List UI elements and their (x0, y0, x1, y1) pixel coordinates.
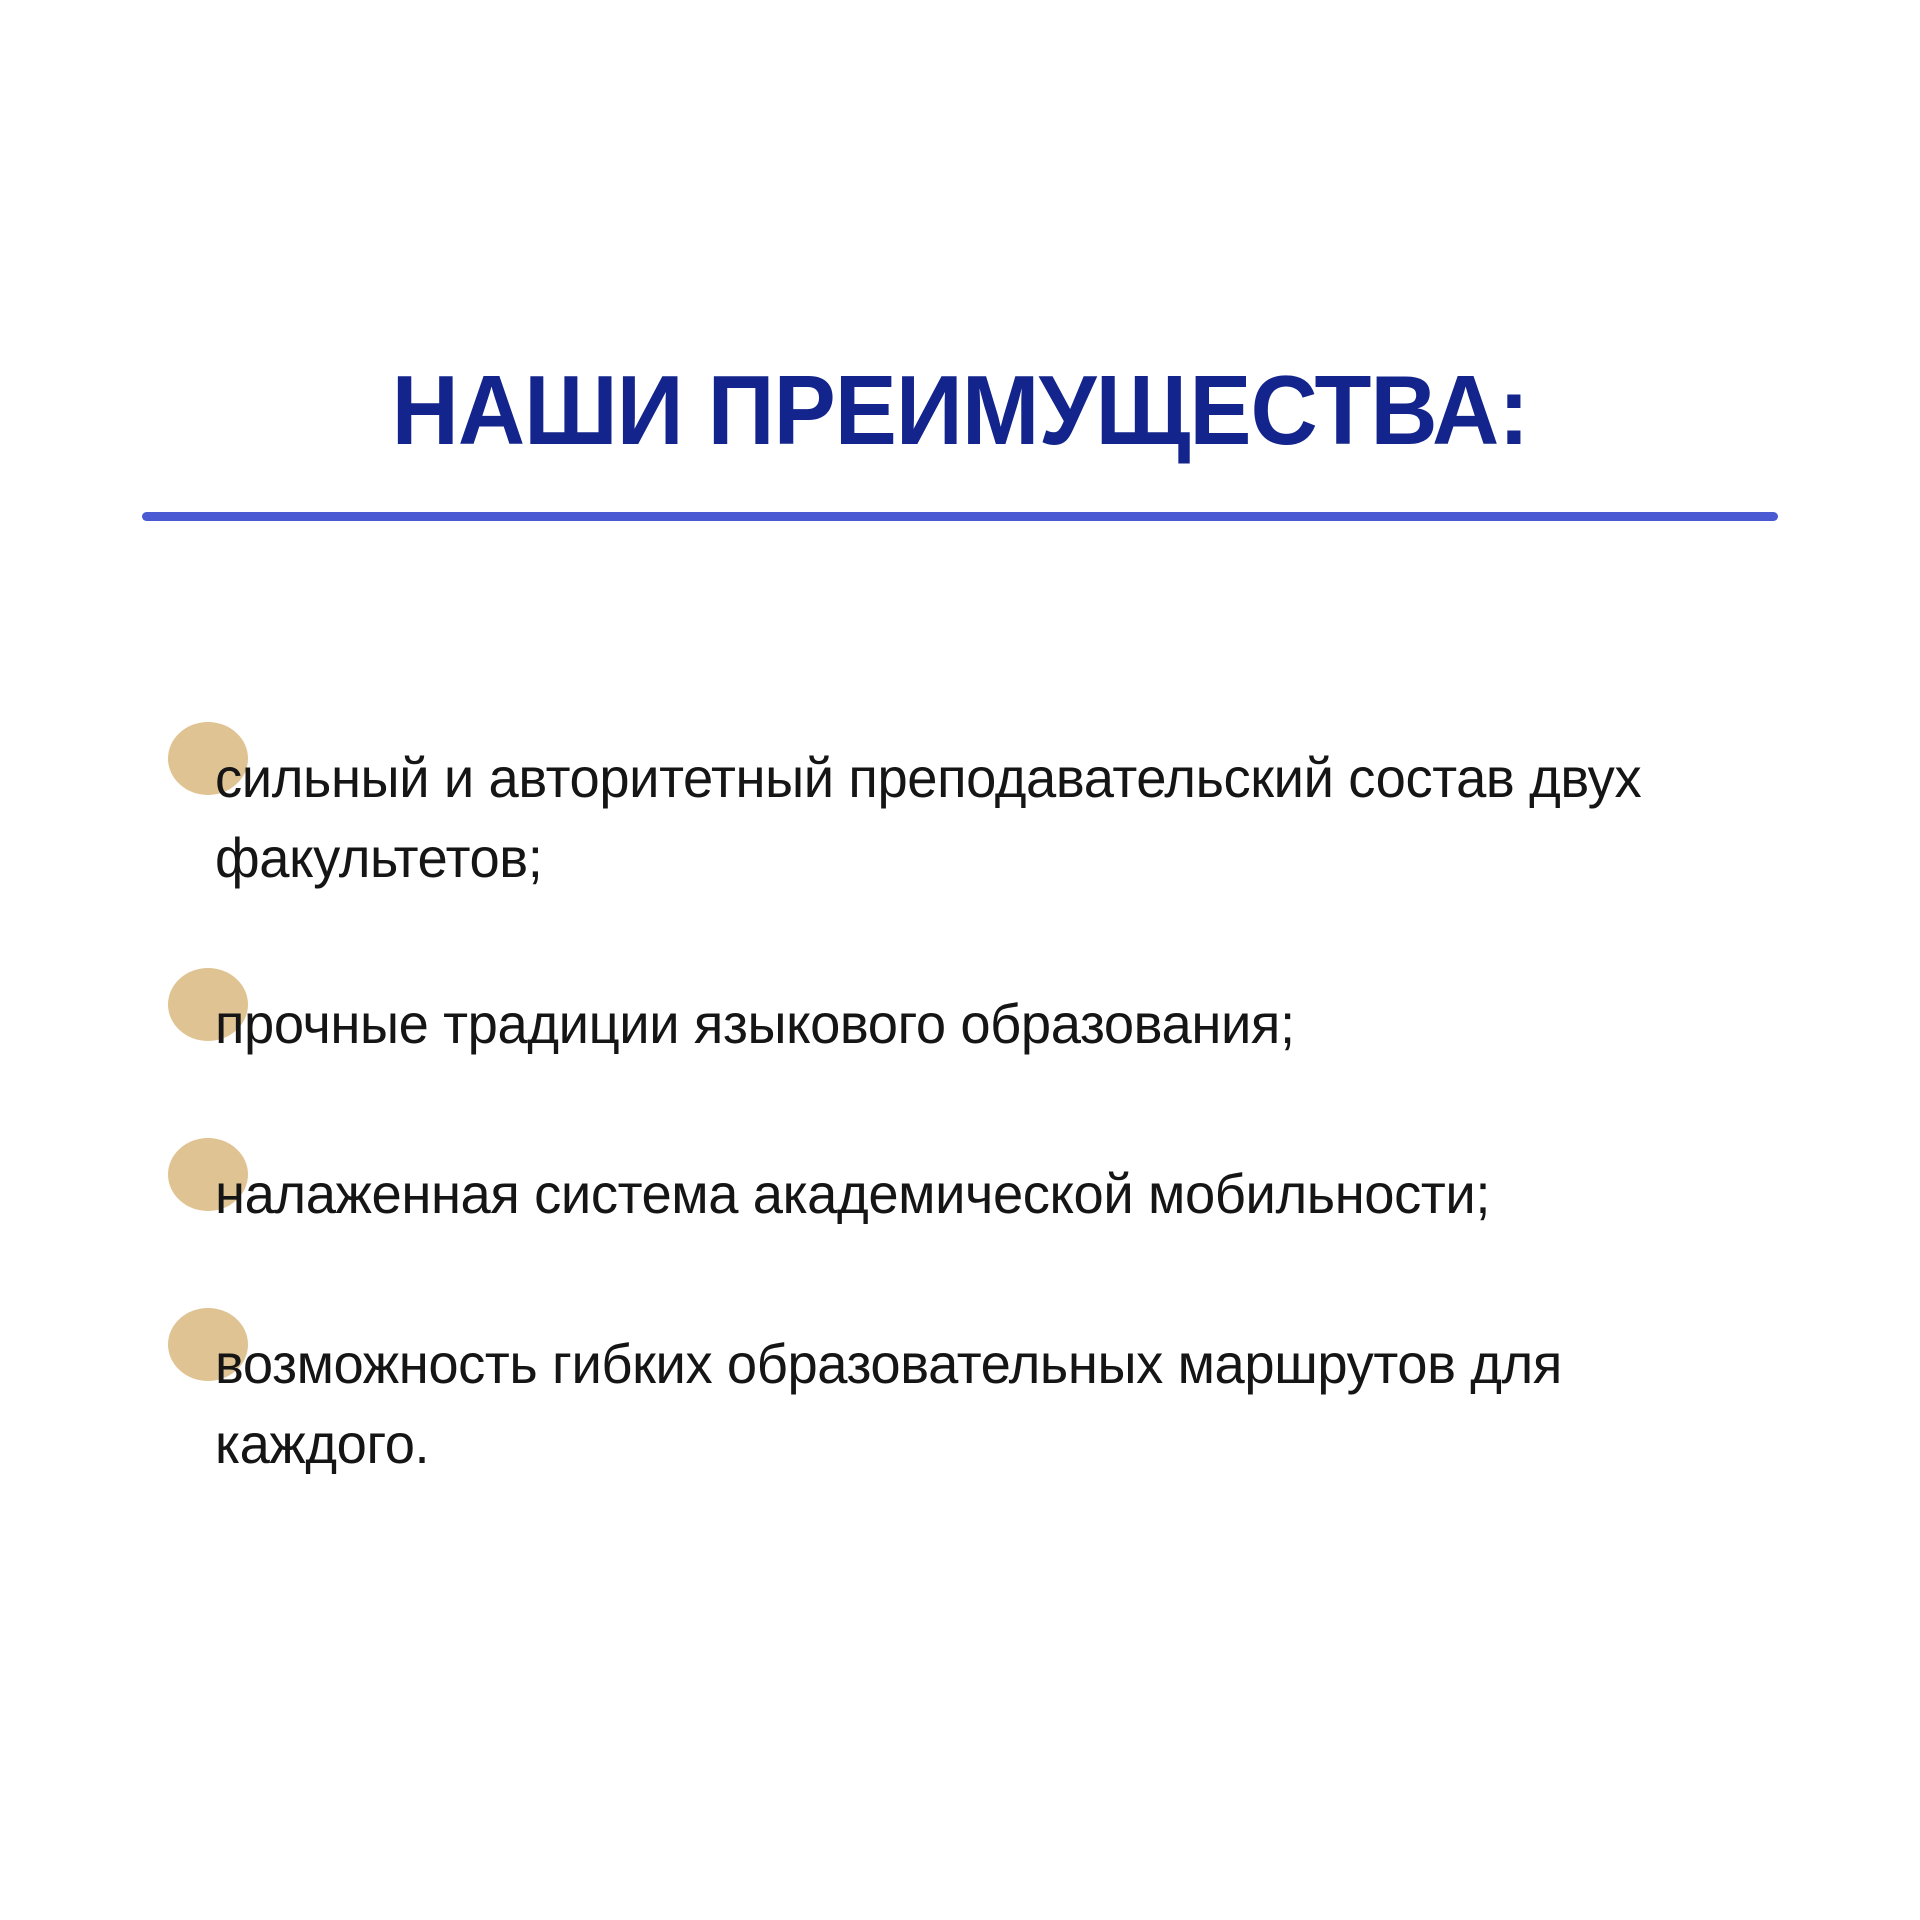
advantages-list: сильный и авторитетный преподавательский… (0, 700, 1920, 1532)
title-underline-rule (142, 512, 1778, 521)
list-item-label: возможность гибких образовательных маршр… (215, 1286, 1786, 1484)
title-block: НАШИ ПРЕИМУЩЕСТВА: (142, 360, 1778, 462)
list-item-label: прочные традиции языкового образования; (215, 946, 1786, 1064)
page-title: НАШИ ПРЕИМУЩЕСТВА: (183, 360, 1737, 462)
list-item: налаженная система академической мобильн… (0, 1116, 1920, 1234)
list-item: прочные традиции языкового образования; (0, 946, 1920, 1064)
list-item-label: сильный и авторитетный преподавательский… (215, 700, 1786, 898)
slide-canvas: НАШИ ПРЕИМУЩЕСТВА: сильный и авторитетны… (0, 0, 1920, 1920)
list-item: возможность гибких образовательных маршр… (0, 1286, 1920, 1484)
list-item-label: налаженная система академической мобильн… (215, 1116, 1786, 1234)
list-item: сильный и авторитетный преподавательский… (0, 700, 1920, 898)
